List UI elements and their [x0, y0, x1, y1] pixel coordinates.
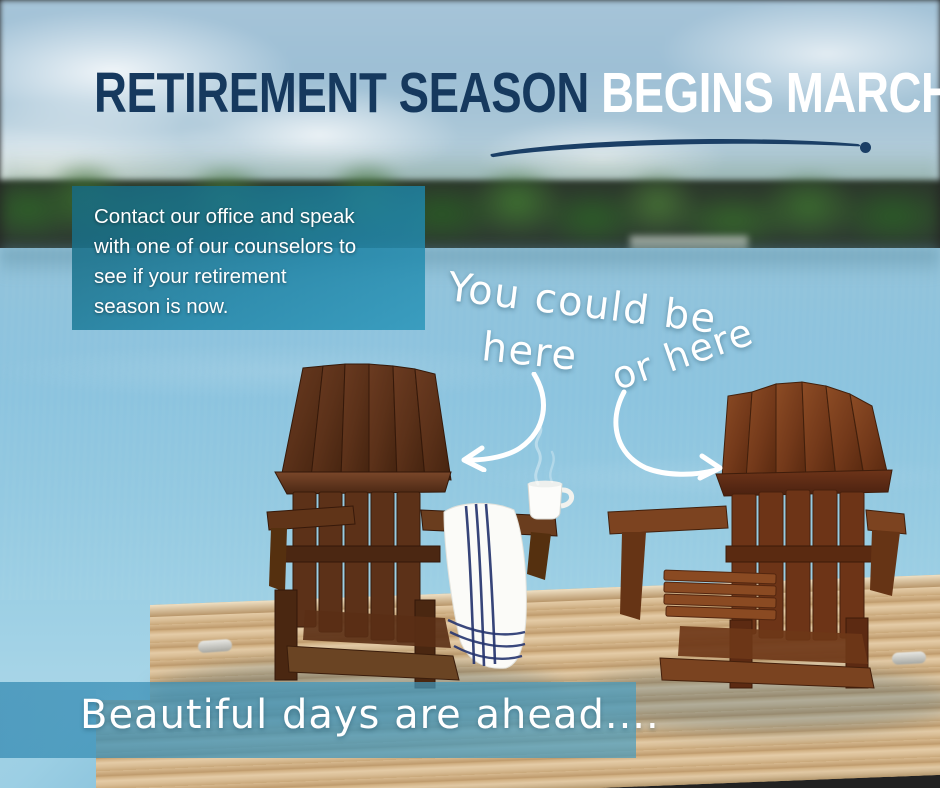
poster-canvas: RETIREMENT SEASON BEGINS MARCH 1ST Conta… — [0, 0, 940, 788]
card-line-2: with one of our counselors to — [94, 232, 403, 262]
striped-towel — [436, 500, 536, 660]
bottom-banner-text: Beautiful days are ahead.... — [80, 692, 660, 738]
card-line-4: season is now. — [94, 292, 403, 322]
swoosh-underline-icon — [488, 128, 868, 158]
headline-navy: RETIREMENT SEASON — [94, 61, 589, 125]
card-line-1: Contact our office and speak — [94, 202, 403, 232]
curved-arrow-left-icon — [446, 372, 566, 472]
page-title: RETIREMENT SEASON BEGINS MARCH 1ST — [94, 60, 846, 126]
card-line-3: see if your retirement — [94, 262, 403, 292]
headline-white: BEGINS MARCH 1 — [601, 61, 940, 125]
towel-svg — [436, 500, 536, 670]
dock-cleat-left — [198, 639, 233, 653]
contact-message-card: Contact our office and speak with one of… — [72, 186, 425, 330]
curved-arrow-right-icon — [612, 388, 732, 482]
period-dot-icon — [860, 142, 871, 153]
